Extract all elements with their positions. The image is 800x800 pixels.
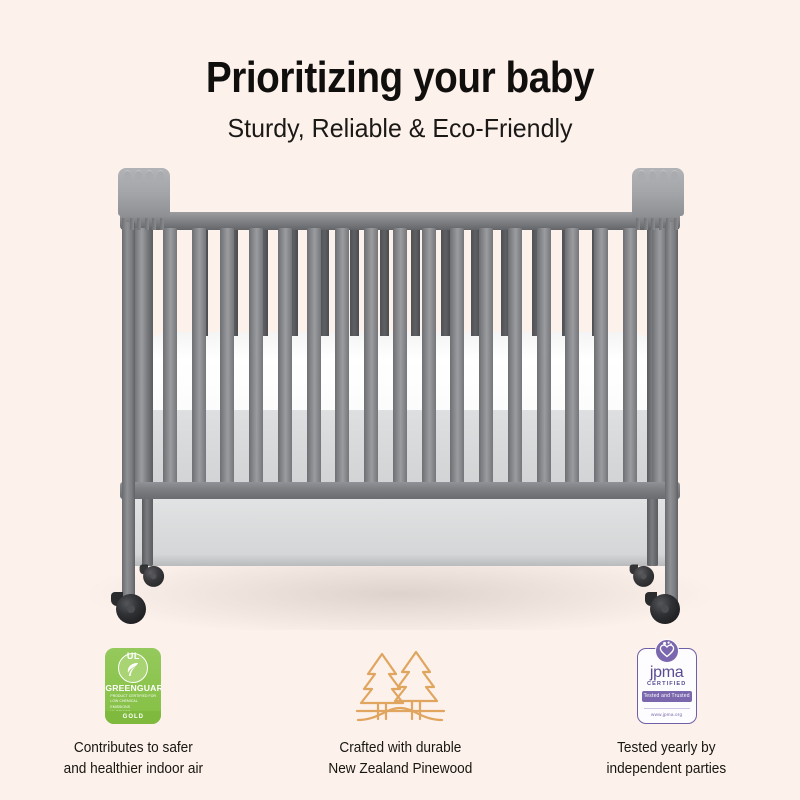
crib-slat xyxy=(278,228,292,484)
product-scene xyxy=(0,150,800,640)
corner-post-bumps xyxy=(638,170,678,179)
caption-line-1: Contributes to safer xyxy=(8,738,259,759)
crib-slat xyxy=(422,228,436,484)
crib-slat xyxy=(508,228,522,484)
crib-slat xyxy=(393,228,407,484)
greenguard-brand: GREENGUARD xyxy=(105,683,161,693)
crib-slat xyxy=(220,228,234,484)
caption-line-1: Crafted with durable xyxy=(275,738,526,759)
corner-post-slat-ends xyxy=(122,218,164,230)
jpma-url: www.jpma.org xyxy=(638,712,696,717)
ul-mark-label: UL xyxy=(105,651,161,661)
page-title: Prioritizing your baby xyxy=(48,0,752,100)
caster-hub xyxy=(661,605,669,613)
crib-front-leg-right xyxy=(665,222,678,610)
crib-caster-rear-left xyxy=(143,563,167,587)
jpma-certified-label: CERTIFIED xyxy=(638,681,696,687)
feature-caption: Contributes to safer and healthier indoo… xyxy=(8,738,259,779)
crib-bottom-rail xyxy=(120,482,680,499)
fine-print-line: LOW CHEMICAL EMISSIONS xyxy=(110,699,156,710)
crib-slat xyxy=(565,228,579,484)
feature-jpma: jpma CERTIFIED Tested and Trusted www.jp… xyxy=(533,644,800,779)
crib-caster-front-left xyxy=(116,590,150,624)
feature-caption: Crafted with durable New Zealand Pinewoo… xyxy=(275,738,526,779)
caster-hub xyxy=(151,574,157,580)
greenguard-level: GOLD xyxy=(105,711,161,724)
crib-front-slats xyxy=(134,228,666,484)
crib-caster-rear-right xyxy=(633,563,657,587)
crib-corner-post-left xyxy=(114,166,172,222)
feature-badges-row: UL GREENGUARD PRODUCT CERTIFIED FOR LOW … xyxy=(0,644,800,779)
crib-slat xyxy=(594,228,608,484)
crib-slat xyxy=(364,228,378,484)
jpma-certified-badge: jpma CERTIFIED Tested and Trusted www.jp… xyxy=(637,648,697,724)
caption-line-1: Tested yearly by xyxy=(541,738,792,759)
caption-line-2: independent parties xyxy=(541,759,792,780)
caption-line-2: and healthier indoor air xyxy=(8,759,259,780)
page-subtitle: Sturdy, Reliable & Eco-Friendly xyxy=(16,100,784,143)
corner-post-bumps xyxy=(124,170,164,179)
jpma-brand: jpma xyxy=(638,665,696,681)
promo-header: Prioritizing your baby Sturdy, Reliable … xyxy=(0,0,800,143)
greenguard-gold-badge: UL GREENGUARD PRODUCT CERTIFIED FOR LOW … xyxy=(105,648,161,724)
pine-trees-icon xyxy=(352,648,448,724)
heart-icon xyxy=(657,640,677,660)
crib-caster-front-right xyxy=(650,590,684,624)
jpma-divider xyxy=(644,708,690,709)
crib-slat xyxy=(134,228,148,484)
crib-skirt xyxy=(126,498,674,566)
crib-slat xyxy=(163,228,177,484)
crib-slat xyxy=(450,228,464,484)
crib-slat xyxy=(307,228,321,484)
caster-hub xyxy=(127,605,135,613)
crib-slat xyxy=(335,228,349,484)
feature-caption: Tested yearly by independent parties xyxy=(541,738,792,779)
caption-line-2: New Zealand Pinewood xyxy=(275,759,526,780)
crib-front-leg-left xyxy=(122,222,135,610)
crib-slat xyxy=(479,228,493,484)
leaf-icon xyxy=(126,662,140,678)
corner-post-slat-ends xyxy=(636,218,678,230)
crib-slat xyxy=(652,228,666,484)
feature-greenguard: UL GREENGUARD PRODUCT CERTIFIED FOR LOW … xyxy=(0,644,267,779)
jpma-tagline: Tested and Trusted xyxy=(642,691,692,702)
pinewood-icon-area xyxy=(267,644,534,728)
crib-slat xyxy=(249,228,263,484)
crib-product-image xyxy=(112,166,688,626)
jpma-badge-area: jpma CERTIFIED Tested and Trusted www.jp… xyxy=(533,644,800,728)
crib-slat xyxy=(537,228,551,484)
jpma-heart-circle xyxy=(655,639,679,663)
crib-slat xyxy=(623,228,637,484)
crib-slat xyxy=(192,228,206,484)
feature-pinewood: Crafted with durable New Zealand Pinewoo… xyxy=(267,644,534,779)
caster-hub xyxy=(641,574,647,580)
crib-corner-post-right xyxy=(628,166,686,222)
greenguard-badge-area: UL GREENGUARD PRODUCT CERTIFIED FOR LOW … xyxy=(0,644,267,728)
